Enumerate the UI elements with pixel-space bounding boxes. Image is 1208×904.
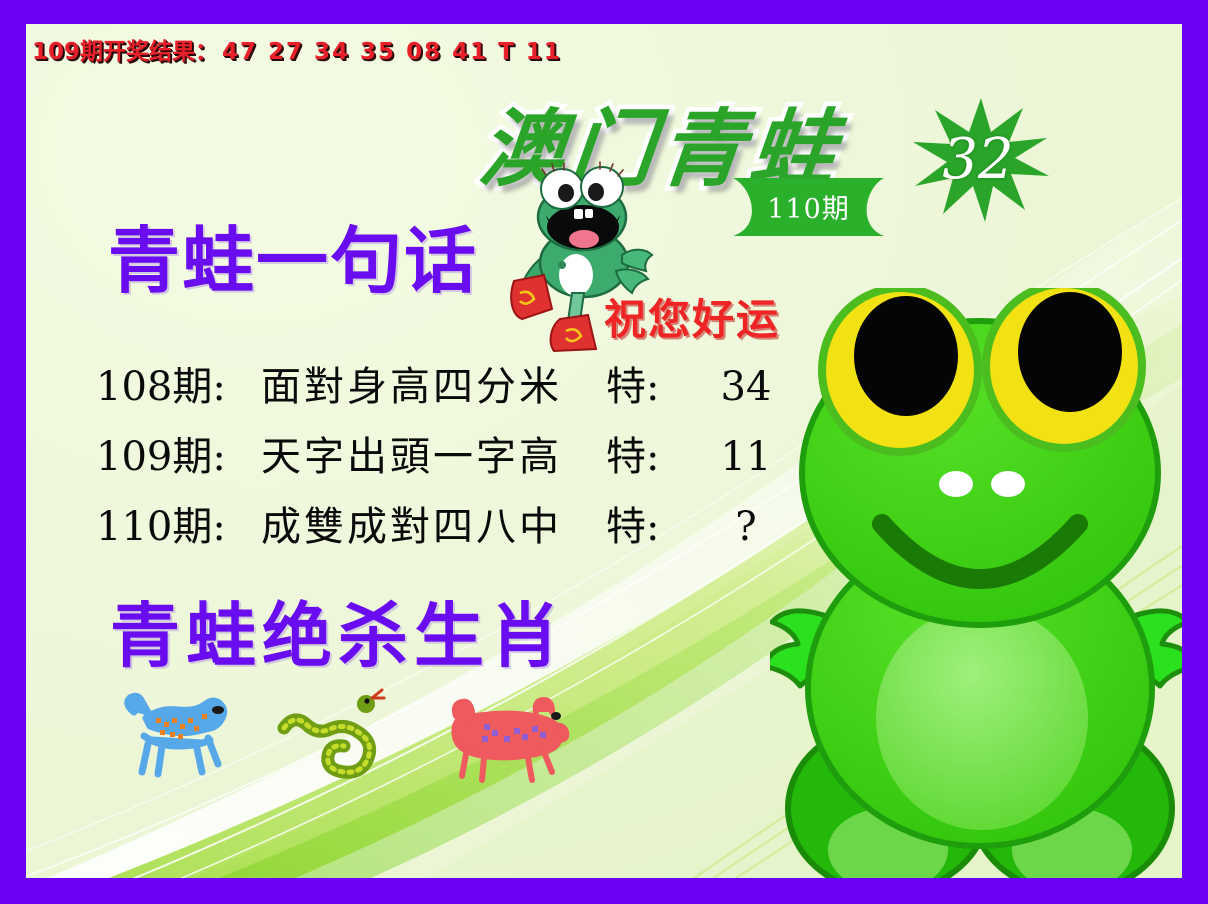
row-issue: 109期:: [96, 424, 261, 482]
dog-zodiac-icon: [104, 682, 254, 792]
good-luck-text: 祝您好运: [604, 286, 780, 347]
table-row: 109期: 天字出頭一字高 特: 11: [96, 424, 856, 494]
issue-burst-badge: 32: [911, 94, 1051, 224]
issue-banner: 110期: [731, 176, 886, 238]
heading-frog-phrase: 青蛙一句话: [108, 202, 478, 307]
issue-banner-label: 110期: [731, 176, 886, 238]
table-row: 108期: 面對身高四分米 特: 34: [96, 354, 856, 424]
draw-result-numbers: 47 27 34 35 08 41 T 11: [222, 39, 562, 65]
row-te-label: 特:: [606, 424, 716, 482]
row-value: 11: [716, 434, 776, 480]
pig-zodiac-icon: [432, 682, 582, 792]
row-value: ?: [716, 504, 776, 550]
zodiac-icon-row: [104, 682, 582, 792]
poster-root: 109期开奖结果：47 27 34 35 08 41 T 11 32 澳门青蛙 …: [0, 0, 1208, 904]
row-phrase: 面對身高四分米: [261, 354, 606, 412]
snake-zodiac-icon: [268, 682, 418, 792]
poster-canvas: 109期开奖结果：47 27 34 35 08 41 T 11 32 澳门青蛙 …: [26, 24, 1182, 878]
row-value: 34: [716, 364, 776, 410]
table-row: 110期: 成雙成對四八中 特: ?: [96, 494, 856, 564]
row-phrase: 天字出頭一字高: [261, 424, 606, 482]
row-te-label: 特:: [606, 354, 716, 412]
heading-kill-zodiac: 青蛙绝杀生肖: [110, 580, 566, 681]
draw-result-prefix: 109期开奖结果：: [32, 39, 218, 65]
prediction-table: 108期: 面對身高四分米 特: 34 109期: 天字出頭一字高 特: 11 …: [96, 354, 856, 564]
row-te-label: 特:: [606, 494, 716, 552]
burst-number: 32: [911, 94, 1051, 224]
big-frog-mascot-icon: [770, 288, 1182, 878]
row-phrase: 成雙成對四八中: [261, 494, 606, 552]
row-issue: 110期:: [96, 494, 261, 552]
row-issue: 108期:: [96, 354, 261, 412]
draw-result-line: 109期开奖结果：47 27 34 35 08 41 T 11: [32, 32, 562, 66]
